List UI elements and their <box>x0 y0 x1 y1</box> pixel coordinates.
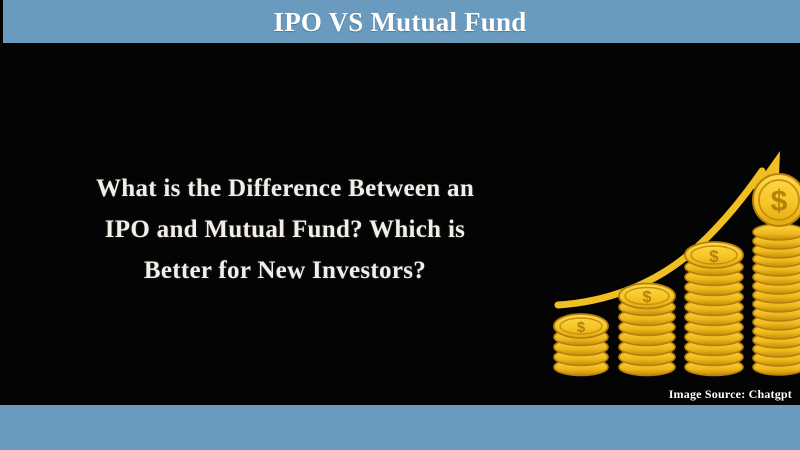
headline-line-2: IPO and Mutual Fund? Which is <box>40 209 530 250</box>
growth-arrow-icon <box>558 151 780 305</box>
dollar-symbol-4: $ <box>771 185 788 218</box>
image-source-attribution: Image Source: Chatgpt <box>669 387 792 402</box>
coin-stack-1: $ <box>554 314 608 376</box>
poster-canvas: IPO VS Mutual Fund What is the Differenc… <box>0 0 800 450</box>
headline-line-3: Better for New Investors? <box>40 250 530 291</box>
dollar-symbol-1: $ <box>577 319 586 336</box>
footer-bar <box>0 405 800 450</box>
coin-stack-2: $ <box>619 284 675 376</box>
headline-line-1: What is the Difference Between an <box>40 168 530 209</box>
coin-stack-3: $ <box>685 242 743 376</box>
header-bar: IPO VS Mutual Fund <box>0 0 800 43</box>
headline-block: What is the Difference Between an IPO an… <box>40 168 530 291</box>
coin-stack-growth-icon: $ $ <box>548 145 800 385</box>
dollar-symbol-3: $ <box>709 247 719 266</box>
coin-stack-4: $ <box>753 174 800 375</box>
dollar-symbol-2: $ <box>643 289 652 306</box>
page-title: IPO VS Mutual Fund <box>0 2 800 42</box>
